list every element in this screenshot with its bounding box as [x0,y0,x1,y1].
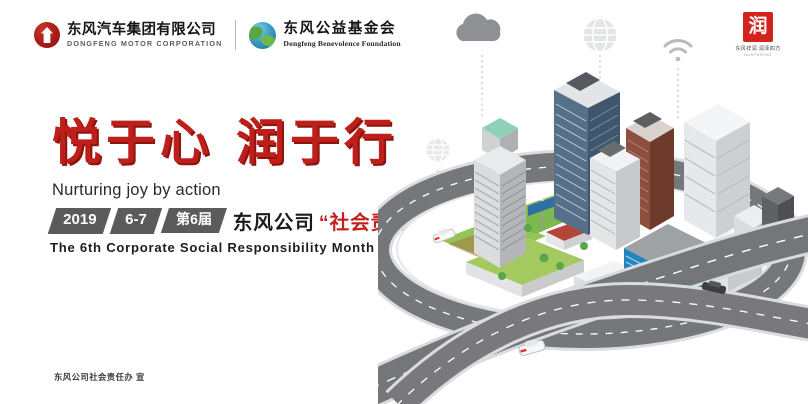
tag-months: 6-7 [110,208,162,234]
globe-icon [583,18,617,52]
tag-edition-label: 第6届 [176,211,212,229]
logo-divider [235,20,236,50]
corp-name-en: DONGFENG MOTOR CORPORATION [67,40,222,47]
header-logos: 东风汽车集团有限公司 DONGFENG MOTOR CORPORATION 东风… [34,14,401,56]
smart-city-illustration [378,0,808,404]
page-title-cn: 悦于心 润于行 [52,118,398,167]
headline-block: 悦于心 润于行 Nurturing joy by action [52,118,398,200]
tag-months-label: 6-7 [126,211,148,230]
globe-emblem-icon [249,22,276,49]
tag-edition: 第6届 [161,208,227,233]
globe-icon-small [426,138,450,162]
credit-line: 东风公司社会责任办 宣 [54,371,145,383]
page-title-en: Nurturing joy by action [52,181,398,200]
mid-white-tower [590,141,640,250]
cloud-icon [456,14,500,41]
event-company-name: 东风公司 [233,206,315,235]
tag-year: 2019 [48,208,112,234]
corp-name-cn: 东风汽车集团有限公司 [67,23,222,38]
wifi-icon [665,40,691,61]
dongfeng-swallow-emblem-icon [34,22,60,48]
tag-year-label: 2019 [63,211,96,230]
dongfeng-motor-logo: 东风汽车集团有限公司 DONGFENG MOTOR CORPORATION [34,22,222,48]
green-roof-tower [474,118,526,268]
banner-canvas: 东风汽车集团有限公司 DONGFENG MOTOR CORPORATION 东风… [0,0,808,404]
